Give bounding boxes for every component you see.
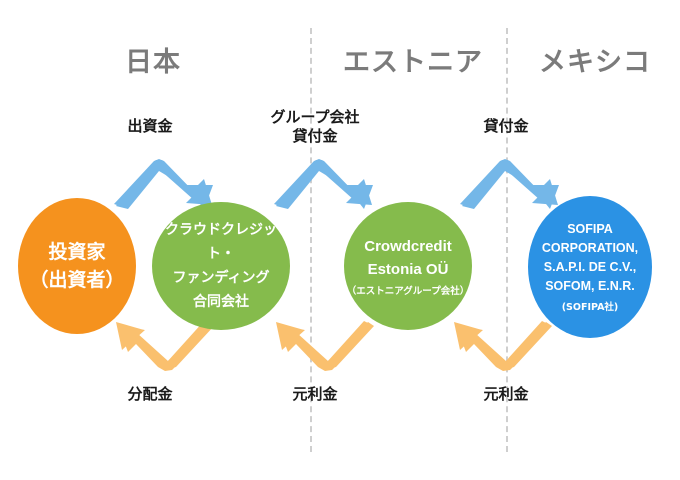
node-sofipa-title: SOFIPA CORPORATION, S.A.P.I. DE C.V., SO… xyxy=(542,220,638,296)
node-crowdcredit-funding-title: クラウドクレジット・ ファンディング 合同会社 xyxy=(152,218,290,314)
flow-label-shusshikin: 出資金 xyxy=(95,117,205,136)
node-sofipa-subtitle: (SOFIPA社) xyxy=(562,301,619,314)
country-header-mexico: メキシコ xyxy=(520,40,670,79)
node-investor-title: 投資家 （出資者） xyxy=(29,238,124,294)
flow-label-bunpaikin: 分配金 xyxy=(95,385,205,404)
flow-label-group-company-loan: グループ会社 貸付金 xyxy=(255,108,375,146)
flow-arrow-group-company-loan-icon xyxy=(272,158,378,210)
node-crowdcredit-estonia-title: Crowdcredit Estonia OÜ xyxy=(364,235,452,281)
country-header-estonia: エストニア xyxy=(330,40,496,79)
node-crowdcredit-estonia[interactable]: Crowdcredit Estonia OÜ （エストニアグループ会社） xyxy=(344,202,472,330)
node-investor[interactable]: 投資家 （出資者） xyxy=(18,198,136,334)
flow-arrow-ganrikin-1-icon xyxy=(270,320,380,376)
flow-label-ganrikin-1: 元利金 xyxy=(255,385,375,404)
flow-label-kashitsukekin: 貸付金 xyxy=(450,117,562,136)
flow-arrow-bunpaikin-icon xyxy=(110,320,220,376)
flow-arrow-shusshikin-icon xyxy=(112,158,218,210)
flow-arrow-kashitsukekin-icon xyxy=(458,158,564,210)
node-sofipa[interactable]: SOFIPA CORPORATION, S.A.P.I. DE C.V., SO… xyxy=(528,196,652,338)
country-header-japan: 日本 xyxy=(78,40,228,79)
node-crowdcredit-estonia-subtitle: （エストニアグループ会社） xyxy=(347,285,469,298)
flow-label-ganrikin-2: 元利金 xyxy=(450,385,562,404)
node-crowdcredit-funding[interactable]: クラウドクレジット・ ファンディング 合同会社 xyxy=(152,202,290,330)
diagram-canvas: 日本 エストニア メキシコ 出資金 グループ会社 貸付金 貸付金 分配金 元利金… xyxy=(0,0,680,480)
flow-arrow-ganrikin-2-icon xyxy=(448,320,558,376)
